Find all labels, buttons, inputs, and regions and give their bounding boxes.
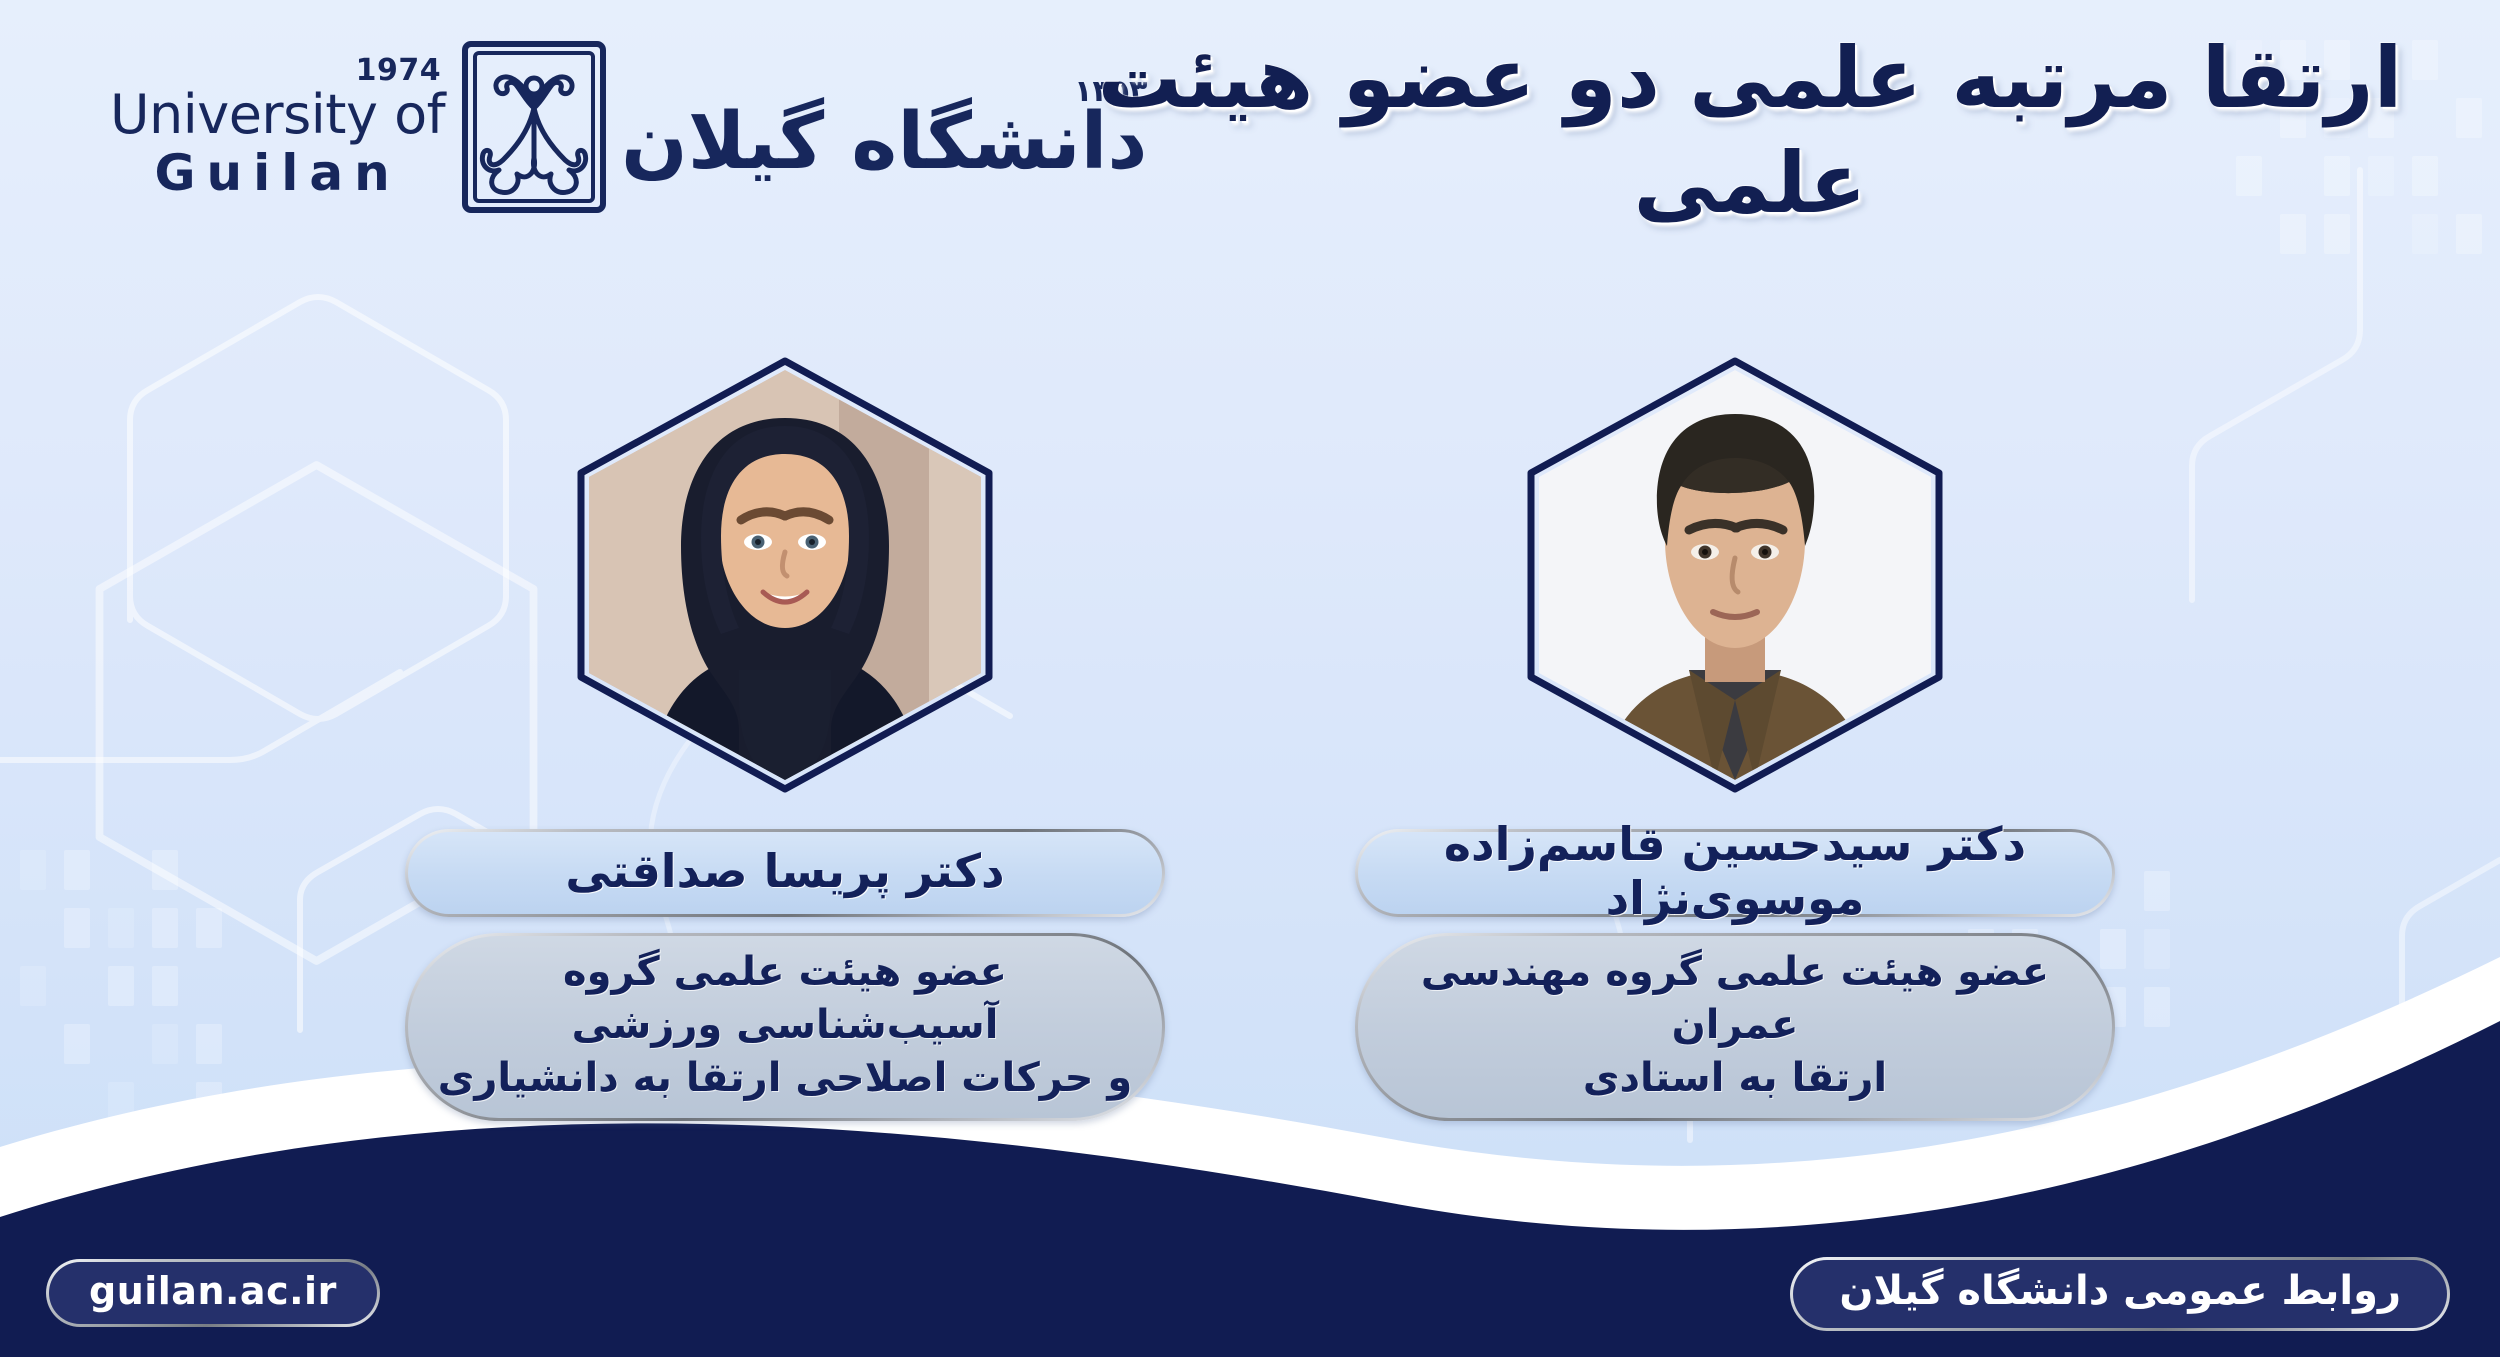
person-role-pill-right: عضو هیئت علمی گروه مهندسی عمران ارتقا به…	[1355, 933, 2115, 1121]
person-name-pill-left: دکتر پریسا صداقتی	[405, 829, 1165, 917]
person-name-left: دکتر پریسا صداقتی	[408, 832, 1162, 914]
portrait-frame-left	[575, 355, 995, 795]
person-role-right-line1: عضو هیئت علمی گروه مهندسی عمران	[1384, 946, 2086, 1052]
guilan-university-emblem-icon	[459, 38, 609, 216]
portrait-frame-right	[1525, 355, 1945, 795]
person-role-left: عضو هیئت علمی گروه آسیب‌شناسی ورزشی و حر…	[408, 936, 1162, 1118]
website-url[interactable]: guilan.ac.ir	[49, 1262, 377, 1324]
person-role-left-line2: و حرکات اصلاحی ارتقا به دانشیاری	[438, 1052, 1133, 1105]
page-title: ارتقا مرتبه علمی دو عضو هیئت علمی	[1060, 26, 2440, 236]
person-name-pill-right: دکتر سیدحسین قاسم‌زاده موسوی‌نژاد	[1355, 829, 2115, 917]
public-relations-badge: روابط عمومی دانشگاه گیلان	[1790, 1257, 2450, 1331]
person-name-right: دکتر سیدحسین قاسم‌زاده موسوی‌نژاد	[1358, 832, 2112, 914]
poster-canvas: 1974 University of Guilan ۱۳۵۳ دانشگاه گ…	[0, 0, 2500, 1357]
logo-guilan: Guilan	[154, 148, 400, 198]
logo-english-text: 1974 University of Guilan	[110, 56, 445, 198]
person-role-left-line1: عضو هیئت علمی گروه آسیب‌شناسی ورزشی	[434, 946, 1136, 1052]
logo-university-of: University of	[110, 88, 445, 142]
person-role-right-line2: ارتقا به استادی	[1583, 1052, 1887, 1105]
person-role-right: عضو هیئت علمی گروه مهندسی عمران ارتقا به…	[1358, 936, 2112, 1118]
person-role-pill-left: عضو هیئت علمی گروه آسیب‌شناسی ورزشی و حر…	[405, 933, 1165, 1121]
hexagon-border-left	[575, 355, 995, 795]
university-logo: 1974 University of Guilan ۱۳۵۳ دانشگاه گ…	[110, 38, 1147, 216]
logo-year-en: 1974	[356, 56, 442, 86]
person-card-right: دکتر سیدحسین قاسم‌زاده موسوی‌نژاد عضو هی…	[1345, 355, 2125, 1121]
public-relations-label: روابط عمومی دانشگاه گیلان	[1793, 1260, 2447, 1328]
hexagon-border-right	[1525, 355, 1945, 795]
website-badge[interactable]: guilan.ac.ir	[46, 1259, 380, 1327]
person-card-left: دکتر پریسا صداقتی عضو هیئت علمی گروه آسی…	[395, 355, 1175, 1121]
